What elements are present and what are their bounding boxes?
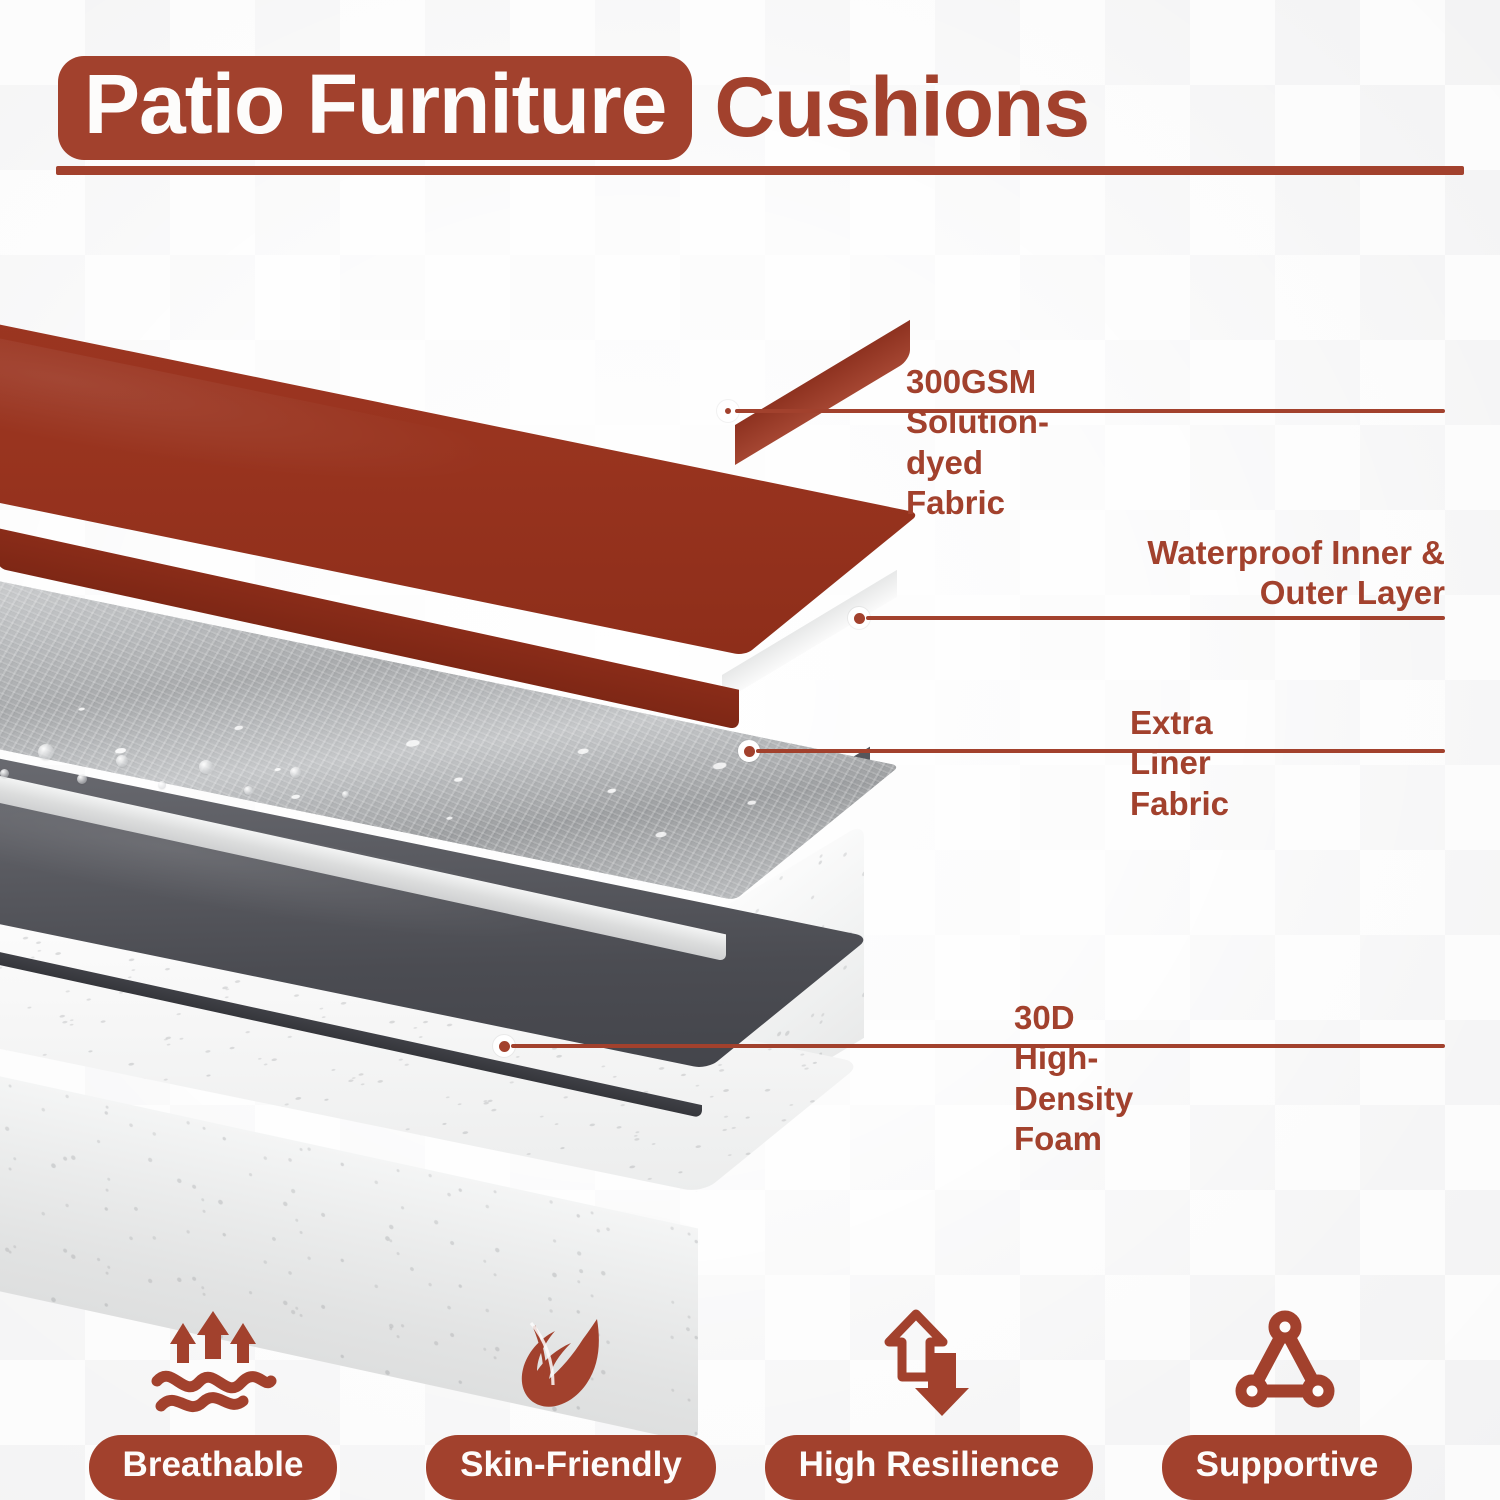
feature-label[interactable]: Skin-Friendly: [426, 1435, 716, 1500]
callout-leader-line: [735, 409, 1445, 413]
arrows-up-over-waves-icon: [143, 1303, 283, 1421]
up-down-arrows-icon: [859, 1303, 999, 1421]
feature-skin-friendly[interactable]: Skin-Friendly: [406, 1303, 736, 1500]
feature-label[interactable]: Breathable: [89, 1435, 338, 1500]
feature-supportive[interactable]: Supportive: [1122, 1303, 1452, 1500]
feature-label[interactable]: High Resilience: [765, 1435, 1094, 1500]
callout-leader-line: [511, 1044, 1445, 1048]
triangle-nodes-icon: [1217, 1303, 1357, 1421]
callout-label: Waterproof Inner & Outer Layer: [1085, 533, 1445, 614]
callout-leader-line: [756, 749, 1445, 753]
feature-badge-row: Breathable Skin-Friendly High Resilience: [0, 1240, 1500, 1500]
callout-label: 30D High-Density Foam: [1014, 998, 1133, 1159]
feature-high-resilience[interactable]: High Resilience: [764, 1303, 1094, 1500]
feature-label[interactable]: Supportive: [1162, 1435, 1413, 1500]
callout-label: Extra Liner Fabric: [1130, 703, 1229, 824]
callout-label: 300GSM Solution-dyed Fabric: [906, 362, 1049, 523]
feature-breathable[interactable]: Breathable: [48, 1303, 378, 1500]
feather-icon: [501, 1303, 641, 1421]
callout-leader-line: [866, 616, 1445, 620]
